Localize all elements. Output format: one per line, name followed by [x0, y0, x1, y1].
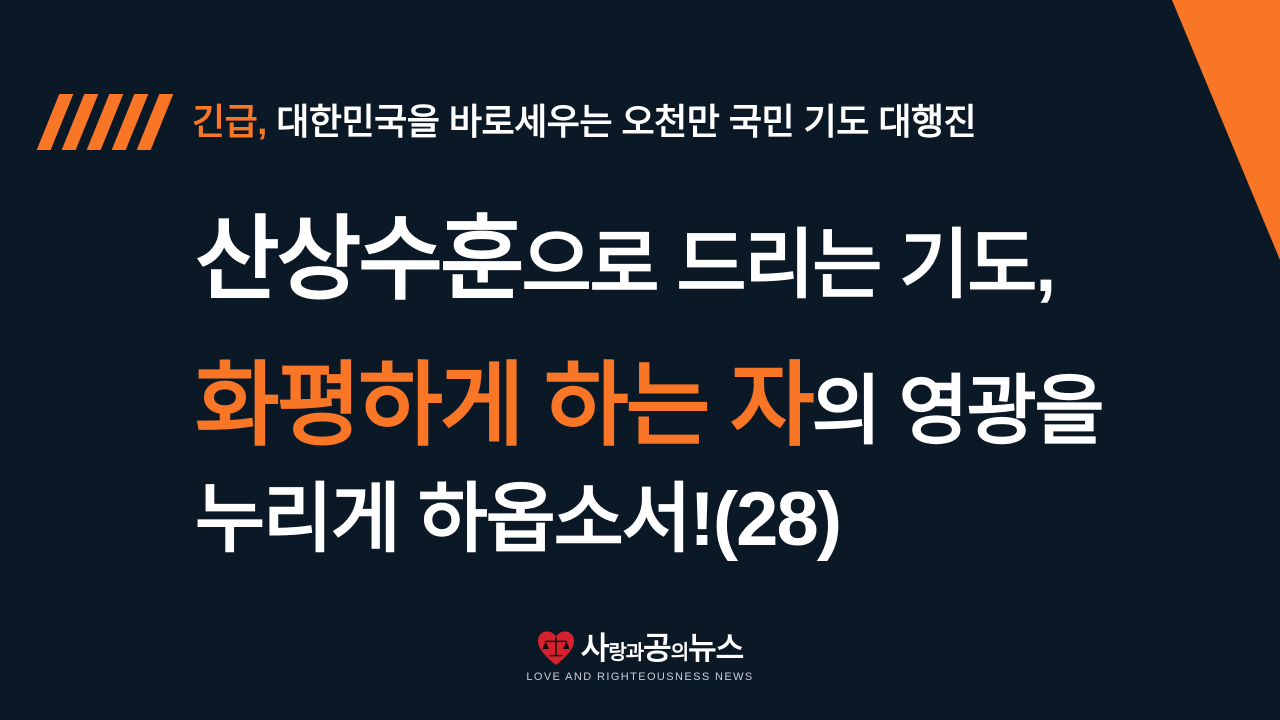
headline-block: 산상수훈으로 드리는 기도, 화평하게 하는 자의 영광을 누리게 하옵소서!(…	[195, 214, 1215, 558]
header-subtitle: 긴급, 대한민국을 바로세우는 오천만 국민 기도 대행진	[192, 104, 976, 140]
brand-name-part5: 뉴스	[688, 631, 743, 666]
diagonal-stripes-icon	[48, 94, 162, 150]
news-card-graphic: 긴급, 대한민국을 바로세우는 오천만 국민 기도 대행진 산상수훈으로 드리는…	[0, 0, 1280, 720]
headline-line-3: 누리게 하옵소서!(28)	[195, 482, 1215, 558]
headline-line-1-emphasis: 산상수훈	[195, 209, 522, 311]
urgent-badge-label: 긴급	[192, 101, 257, 142]
brand-name-part3: 공	[643, 631, 671, 666]
brand-name-korean: 사랑과공의뉴스	[581, 633, 743, 664]
brand-name-part2: 랑과	[608, 642, 643, 664]
headline-line-1: 산상수훈으로 드리는 기도,	[195, 214, 1215, 306]
header-band: 긴급, 대한민국을 바로세우는 오천만 국민 기도 대행진	[0, 88, 1280, 156]
brand-logo: 사랑과공의뉴스 Love and Righteousness News	[0, 630, 1280, 683]
headline-line-2: 화평하게 하는 자의 영광을	[195, 360, 1215, 452]
header-subtitle-text: 대한민국을 바로세우는 오천만 국민 기도 대행진	[276, 101, 976, 142]
headline-line-1-rest: 으로 드리는 기도,	[522, 223, 1055, 308]
brand-logo-row: 사랑과공의뉴스	[537, 630, 743, 666]
headline-line-2-rest: 의 영광을	[812, 369, 1103, 454]
brand-name-part4: 의	[671, 642, 688, 664]
heart-scales-icon	[537, 630, 575, 666]
headline-line-2-emphasis: 화평하게 하는 자	[195, 355, 812, 457]
brand-name-part1: 사	[581, 631, 609, 666]
brand-tagline: Love and Righteousness News	[526, 671, 753, 683]
badge-separator: ,	[257, 101, 276, 142]
